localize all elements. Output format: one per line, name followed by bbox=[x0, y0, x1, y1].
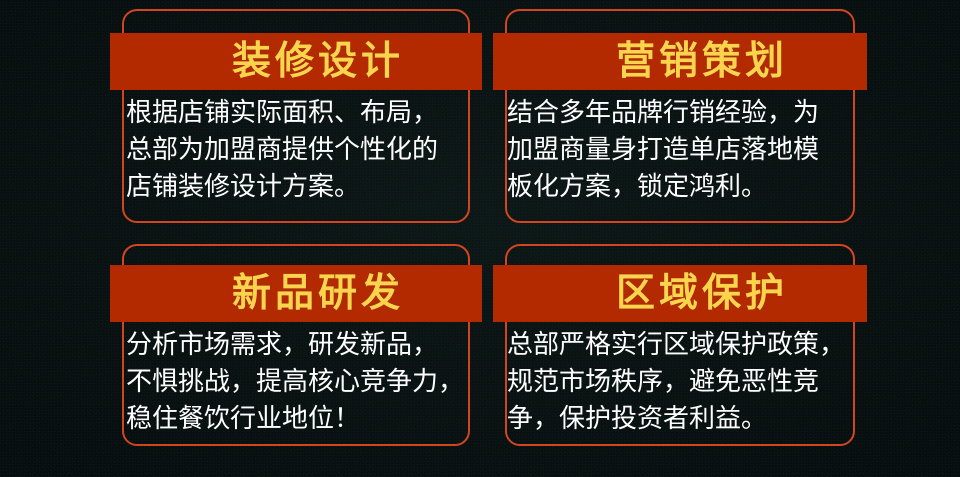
card-header-band: 区域保护 bbox=[493, 265, 867, 322]
card-title: 营销策划 bbox=[616, 42, 788, 81]
card-body-text: 总部严格实行区域保护政策， 规范市场秩序，避免恶性竞 争，保护投资者利益。 bbox=[495, 327, 859, 438]
card-body-text: 结合多年品牌行销经验，为 加盟商量身打造单店落地模 板化方案，锁定鸿利。 bbox=[495, 95, 859, 206]
benefit-card-new-product-rnd: 新品研发 分析市场需求，研发新品， 不惧挑战，提高核心竞争力， 稳住餐饮行业地位… bbox=[122, 244, 470, 446]
card-title: 区域保护 bbox=[616, 274, 788, 313]
card-body-text: 根据店铺实际面积、布局， 总部为加盟商提供个性化的 店铺装修设计方案。 bbox=[114, 95, 472, 206]
card-header-band: 营销策划 bbox=[493, 33, 867, 90]
card-title: 装修设计 bbox=[232, 42, 404, 81]
card-header-band: 新品研发 bbox=[110, 265, 482, 322]
benefit-card-marketing-planning: 营销策划 结合多年品牌行销经验，为 加盟商量身打造单店落地模 板化方案，锁定鸿利… bbox=[505, 9, 855, 223]
card-body-text: 分析市场需求，研发新品， 不惧挑战，提高核心竞争力， 稳住餐饮行业地位！ bbox=[114, 327, 472, 438]
card-header-band: 装修设计 bbox=[110, 33, 482, 90]
benefit-card-regional-protection: 区域保护 总部严格实行区域保护政策， 规范市场秩序，避免恶性竞 争，保护投资者利… bbox=[505, 244, 855, 446]
benefit-card-grid: 装修设计 根据店铺实际面积、布局， 总部为加盟商提供个性化的 店铺装修设计方案。… bbox=[0, 0, 960, 477]
card-title: 新品研发 bbox=[232, 274, 404, 313]
franchise-benefits-poster: 装修设计 根据店铺实际面积、布局， 总部为加盟商提供个性化的 店铺装修设计方案。… bbox=[0, 0, 960, 477]
benefit-card-decoration-design: 装修设计 根据店铺实际面积、布局， 总部为加盟商提供个性化的 店铺装修设计方案。 bbox=[122, 9, 470, 223]
